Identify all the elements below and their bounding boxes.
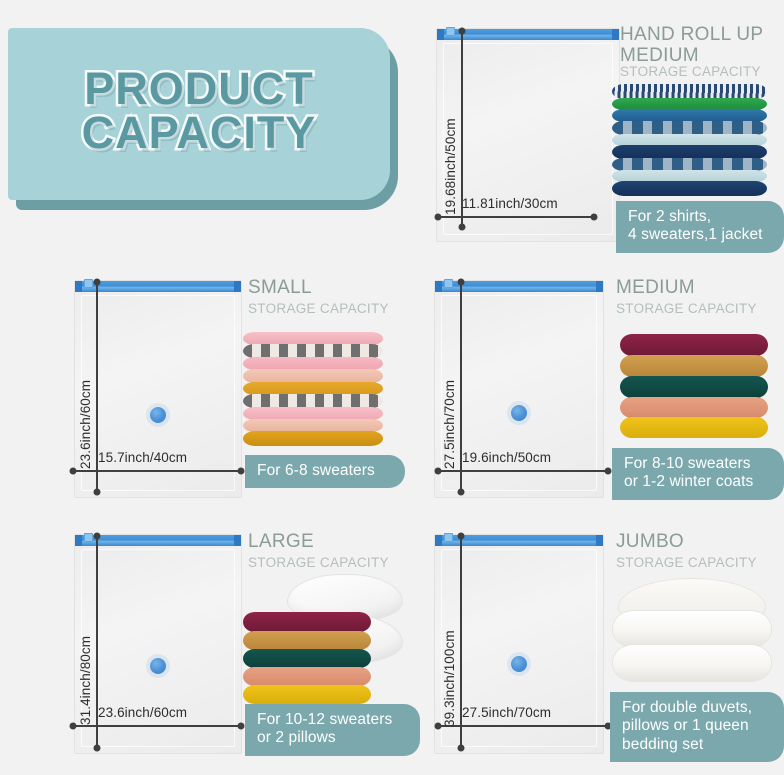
sweaters-and-pillows-icon xyxy=(243,574,405,706)
zipper-pull-icon xyxy=(446,27,455,36)
width-dimension-line xyxy=(73,470,241,472)
infographic-sheet: PRODUCT CAPACITY 19.68inch/50cm 11.81inc… xyxy=(0,0,784,775)
panel-caption: For 8-10 sweaters or 1-2 winter coats xyxy=(612,448,784,500)
panel-title: JUMBO xyxy=(616,532,684,553)
panel-caption: For 2 shirts, 4 sweaters,1 jacket xyxy=(616,201,784,253)
height-dimension-dot-top xyxy=(93,533,100,540)
height-dimension-dot-top xyxy=(93,279,100,286)
panel-hand-roll-up-medium: 19.68inch/50cm 11.81inch/30cm HAND ROLL … xyxy=(420,0,784,258)
page-title-line-2: CAPACITY xyxy=(82,111,317,155)
width-dimension-dot-left xyxy=(435,467,442,474)
width-dimension-label: 15.7inch/40cm xyxy=(98,450,187,465)
width-dimension-line xyxy=(438,216,594,218)
width-dimension-dot-right xyxy=(238,467,245,474)
panel-title: LARGE xyxy=(248,532,314,553)
panel-subtitle: STORAGE CAPACITY xyxy=(248,555,389,570)
width-dimension-dot-left xyxy=(435,213,442,220)
banner-face: PRODUCT CAPACITY xyxy=(8,28,390,200)
vacuum-bag-graphic xyxy=(74,280,242,498)
height-dimension-dot-bottom xyxy=(93,745,100,752)
width-dimension-label: 19.6inch/50cm xyxy=(462,450,551,465)
folded-white-duvet-icon xyxy=(612,578,772,683)
height-dimension-dot-bottom xyxy=(458,224,465,231)
panel-title: SMALL xyxy=(248,278,312,299)
panel-subtitle: STORAGE CAPACITY xyxy=(616,301,757,316)
width-dimension-label: 23.6inch/60cm xyxy=(98,705,187,720)
height-dimension-label: 27.5inch/70cm xyxy=(442,380,457,469)
zipper-pull-icon xyxy=(444,533,453,542)
height-dimension-label: 19.68inch/50cm xyxy=(443,118,458,215)
air-valve-icon xyxy=(150,407,166,423)
page-title-line-1: PRODUCT xyxy=(82,67,317,111)
air-valve-icon xyxy=(511,405,527,421)
width-dimension-line xyxy=(73,725,241,727)
width-dimension-label: 27.5inch/70cm xyxy=(462,705,551,720)
width-dimension-dot-left xyxy=(70,467,77,474)
panel-subtitle: STORAGE CAPACITY xyxy=(616,555,757,570)
height-dimension-label: 23.6inch/60cm xyxy=(78,380,93,469)
height-dimension-dot-bottom xyxy=(457,745,464,752)
zipper-pull-icon xyxy=(84,279,93,288)
zipper-pull-icon xyxy=(444,279,453,288)
folded-clothes-stack-blue-icon xyxy=(612,84,767,196)
height-dimension-dot-bottom xyxy=(93,489,100,496)
height-dimension-dot-top xyxy=(458,28,465,35)
product-capacity-banner: PRODUCT CAPACITY xyxy=(8,28,390,200)
height-dimension-dot-top xyxy=(457,279,464,286)
width-dimension-label: 11.81inch/30cm xyxy=(462,196,558,211)
width-dimension-dot-right xyxy=(591,213,598,220)
folded-clothes-stack-pink-icon xyxy=(243,328,383,446)
width-dimension-dot-left xyxy=(435,722,442,729)
width-dimension-line xyxy=(438,470,608,472)
width-dimension-dot-right xyxy=(605,467,612,474)
air-valve-icon xyxy=(150,658,166,674)
panel-jumbo: 39.3inch/100cm 27.5inch/70cm JUMBO STORA… xyxy=(420,516,784,775)
panel-large: 31.4inch/80cm 23.6inch/60cm LARGE STORAG… xyxy=(0,516,420,775)
width-dimension-dot-right xyxy=(238,722,245,729)
zipper-pull-icon xyxy=(84,533,93,542)
width-dimension-dot-left xyxy=(70,722,77,729)
height-dimension-dot-top xyxy=(457,533,464,540)
folded-sweaters-stack-icon xyxy=(243,608,371,704)
panel-title: HAND ROLL UP MEDIUM xyxy=(620,25,763,66)
folded-sweaters-stack-icon xyxy=(620,330,768,438)
height-dimension-label: 39.3inch/100cm xyxy=(442,630,457,727)
page-title: PRODUCT CAPACITY xyxy=(82,67,317,161)
panel-title: MEDIUM xyxy=(616,278,695,299)
height-dimension-dot-bottom xyxy=(457,489,464,496)
width-dimension-line xyxy=(438,725,608,727)
vacuum-bag-graphic xyxy=(74,534,242,754)
air-valve-icon xyxy=(511,656,527,672)
panel-subtitle: STORAGE CAPACITY xyxy=(248,301,389,316)
panel-caption: For 10-12 sweaters or 2 pillows xyxy=(245,704,420,756)
panel-medium: 27.5inch/70cm 19.6inch/50cm MEDIUM STORA… xyxy=(420,258,784,516)
height-dimension-label: 31.4inch/80cm xyxy=(78,636,93,725)
panel-caption: For double duvets, pillows or 1 queen be… xyxy=(610,692,784,762)
panel-small: 23.6inch/60cm 15.7inch/40cm SMALL STORAG… xyxy=(0,258,420,516)
panel-caption: For 6-8 sweaters xyxy=(245,455,405,488)
panel-subtitle: STORAGE CAPACITY xyxy=(620,64,761,79)
